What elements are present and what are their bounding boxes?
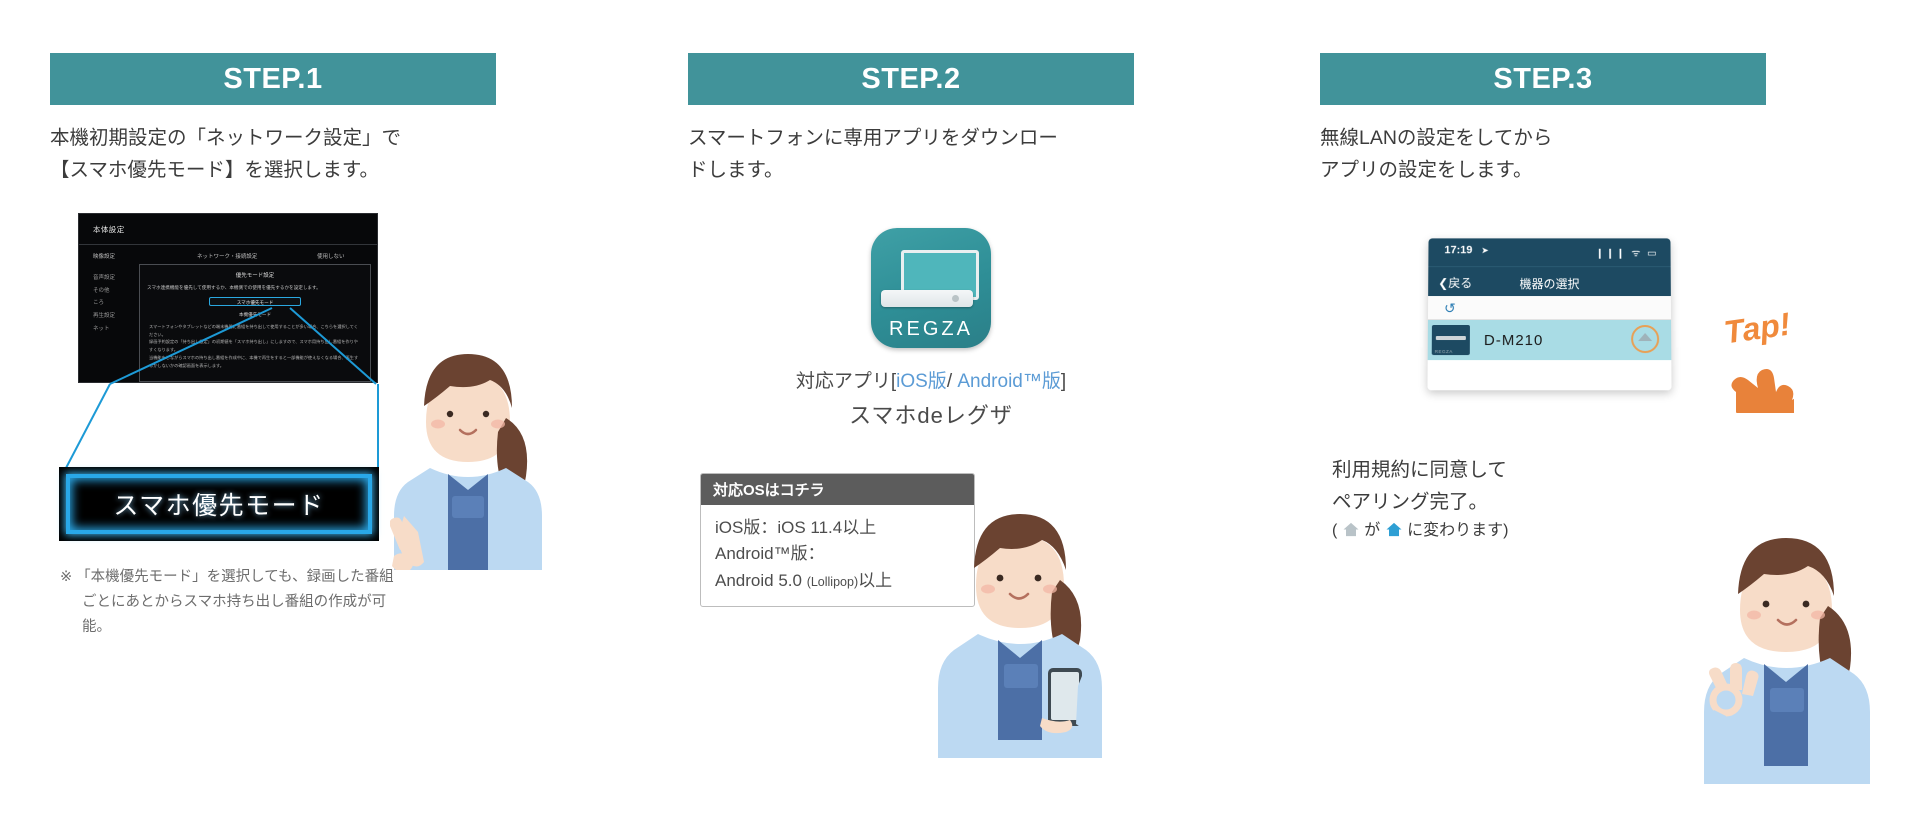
step-column-2: STEP.2 スマートフォンに専用アプリをダウンロー ドします。 REGZA 対… bbox=[688, 0, 1248, 819]
tv-screen-title: 本体設定 bbox=[93, 224, 125, 235]
device-thumbnail-bar bbox=[1436, 336, 1466, 340]
tv-settings-screenshot: 本体設定 映像設定 ネットワーク・接続設定 使用しない 音声設定 その他 ころ … bbox=[78, 213, 378, 383]
home-glyph-icon bbox=[1638, 333, 1652, 341]
tv-side-item-4: ネット bbox=[93, 323, 115, 336]
os-line-android-version: Android 5.0 (Lollipop)以上 bbox=[715, 568, 960, 594]
step-3-description: 無線LANの設定をしてから アプリの設定をします。 bbox=[1320, 123, 1790, 186]
tv-title-divider bbox=[79, 244, 377, 245]
step-2-desc-line2: ドします。 bbox=[688, 155, 1158, 187]
callout-inner-frame: スマホ優先モード bbox=[66, 474, 372, 534]
tv-bullet-2: 当機能をしながらスマホの持ち出し番組を作成中に、本機で再生をすると一部機能が使え… bbox=[149, 354, 361, 370]
tap-annotation-label: Tap! bbox=[1722, 306, 1793, 352]
device-list-item[interactable]: REGZA D-M210 bbox=[1428, 320, 1672, 360]
tv-tab-1: ネットワーク・接続設定 bbox=[197, 252, 257, 260]
smartphone-priority-callout: スマホ優先モード bbox=[60, 468, 378, 540]
regza-wordmark: REGZA bbox=[871, 318, 991, 341]
regza-app-icon[interactable]: REGZA bbox=[871, 228, 991, 348]
step-3-header: STEP.3 bbox=[1320, 53, 1766, 105]
app-title: スマホdeレグザ bbox=[688, 398, 1174, 430]
supported-os-header: 対応OSはコチラ bbox=[701, 474, 974, 505]
step-1-desc-line2: 【スマホ優先モード】を選択します。 bbox=[50, 155, 520, 187]
phone-status-icons: ❙❙❙ ᯤ ▭ bbox=[1596, 245, 1659, 259]
paren-mid: が bbox=[1364, 522, 1380, 539]
tv-side-item-2: ころ bbox=[93, 297, 115, 310]
home-status-icon[interactable] bbox=[1631, 325, 1659, 353]
app-suffix: ] bbox=[1061, 371, 1066, 392]
app-android-link[interactable]: Android™版 bbox=[957, 371, 1061, 392]
tv-option-device-priority[interactable]: 本機優先モード bbox=[209, 310, 301, 319]
device-list-empty-area bbox=[1427, 360, 1671, 390]
step-1-footnote-line2: ごとにあとからスマホ持ち出し番組の作成が可 bbox=[60, 590, 530, 615]
phone-nav-title: 機器の選択 bbox=[1428, 275, 1671, 292]
step-1-header: STEP.1 bbox=[50, 53, 496, 105]
step-3-desc-line1: 無線LANの設定をしてから bbox=[1320, 123, 1790, 155]
tv-option-smartphone-priority[interactable]: スマホ優先モード bbox=[209, 297, 301, 306]
step-2-header: STEP.2 bbox=[688, 53, 1134, 105]
step-1-desc-line1: 本機初期設定の「ネットワーク設定」で bbox=[50, 123, 520, 155]
phone-clock: 17:19 bbox=[1444, 244, 1472, 256]
os-android-tail: 以上 bbox=[858, 571, 892, 590]
step-column-1: STEP.1 本機初期設定の「ネットワーク設定」で 【スマホ優先モード】を選択し… bbox=[50, 0, 610, 819]
step-3-footnote-line2: ペアリング完了。 bbox=[1332, 486, 1752, 518]
tv-side-item-1: その他 bbox=[93, 285, 115, 298]
step-3-desc-line2: アプリの設定をします。 bbox=[1320, 155, 1790, 187]
supported-os-box: 対応OSはコチラ iOS版：iOS 11.4以上 Android™版： Andr… bbox=[700, 473, 975, 607]
illustration-person-with-phone bbox=[936, 462, 1106, 762]
tv-dialog-body: スマホ連携機能を優先して使用するか、本機側での使用を優先するかを設定します。 bbox=[147, 284, 363, 292]
home-icon-blue bbox=[1385, 522, 1403, 537]
tv-side-item-0: 音声設定 bbox=[93, 272, 115, 285]
home-icon-gray bbox=[1342, 522, 1360, 537]
step-1-footnote-line1: ※ 「本機優先モード」を選択しても、録画した番組 bbox=[60, 569, 394, 585]
tv-dialog-bullets: スマートフォンやタブレットなどの端末機器に番組を持ち出して使用することが多い場合… bbox=[149, 323, 361, 370]
device-thumbnail: REGZA bbox=[1432, 325, 1470, 355]
tv-priority-mode-dialog: 優先モード設定 スマホ連携機能を優先して使用するか、本機側での使用を優先するかを… bbox=[139, 264, 371, 382]
tv-side-item-3: 再生設定 bbox=[93, 310, 115, 323]
step-3-footnote-line3: ( が に変わります) bbox=[1332, 518, 1752, 544]
step-3-footnote: 利用規約に同意して ペアリング完了。 ( が に変わります) bbox=[1332, 454, 1752, 545]
step-guide-page: STEP.1 本機初期設定の「ネットワーク設定」で 【スマホ優先モード】を選択し… bbox=[0, 0, 1920, 819]
phone-screenshot: 17:19 ➤ ❙❙❙ ᯤ ▭ ❮戻る 機器の選択 ↺ REGZA bbox=[1427, 238, 1671, 390]
device-thumbnail-label: REGZA bbox=[1435, 349, 1453, 354]
os-android-codename: (Lollipop) bbox=[807, 575, 858, 589]
step-1-footnote-line3: 能。 bbox=[60, 615, 530, 640]
step-1-description: 本機初期設定の「ネットワーク設定」で 【スマホ優先モード】を選択します。 bbox=[50, 123, 520, 186]
phone-refresh-row[interactable]: ↺ bbox=[1428, 296, 1671, 320]
location-arrow-icon: ➤ bbox=[1481, 245, 1489, 256]
tv-tab-2: 使用しない bbox=[317, 252, 345, 260]
step-3-footnote-line1: 利用規約に同意して bbox=[1332, 454, 1752, 486]
refresh-icon[interactable]: ↺ bbox=[1444, 300, 1456, 317]
tv-tab-0: 映像設定 bbox=[93, 252, 115, 260]
app-separator: / bbox=[947, 371, 958, 392]
device-name: D-M210 bbox=[1484, 332, 1543, 349]
supported-os-body: iOS版：iOS 11.4以上 Android™版： Android 5.0 (… bbox=[701, 505, 974, 606]
step-2-desc-line1: スマートフォンに専用アプリをダウンロー bbox=[688, 123, 1158, 155]
tv-dialog-title: 優先モード設定 bbox=[140, 271, 370, 279]
paren-open: ( bbox=[1332, 522, 1337, 539]
phone-nav-bar: ❮戻る 機器の選択 bbox=[1428, 266, 1671, 296]
pointing-hand-icon bbox=[1724, 358, 1794, 413]
tv-bullet-1: 録画予約設定の「持ち出し設定」の初期値を「スマホ持ち出し」にしますので、スマホ用… bbox=[149, 338, 361, 354]
phone-status-bar: 17:19 ➤ ❙❙❙ ᯤ ▭ bbox=[1428, 238, 1670, 266]
tv-bullet-0: スマートフォンやタブレットなどの端末機器に番組を持ち出して使用することが多い場合… bbox=[149, 323, 361, 339]
app-prefix: 対応アプリ[ bbox=[796, 371, 896, 392]
supported-app-line: 対応アプリ[iOS版/ Android™版] bbox=[688, 366, 1174, 393]
app-ios-link[interactable]: iOS版 bbox=[896, 371, 947, 392]
step-1-footnote: ※ 「本機優先モード」を選択しても、録画した番組 ごとにあとからスマホ持ち出し番… bbox=[60, 565, 530, 640]
paren-tail: に変わります) bbox=[1407, 522, 1508, 539]
os-android-main: Android 5.0 bbox=[715, 571, 802, 590]
illustration-person-pointing bbox=[390, 310, 550, 570]
regza-recorder-icon bbox=[881, 290, 973, 307]
illustration-person-ok-sign bbox=[1700, 486, 1890, 786]
callout-label: スマホ優先モード bbox=[113, 486, 324, 522]
step-2-description: スマートフォンに専用アプリをダウンロー ドします。 bbox=[688, 123, 1158, 186]
step-column-3: STEP.3 無線LANの設定をしてから アプリの設定をします。 17:19 ➤… bbox=[1320, 0, 1880, 819]
tv-side-menu: 音声設定 その他 ころ 再生設定 ネット bbox=[93, 272, 115, 335]
os-line-android-label: Android™版： bbox=[715, 541, 960, 567]
os-line-ios: iOS版：iOS 11.4以上 bbox=[715, 515, 960, 541]
regza-recorder-knob bbox=[952, 295, 959, 302]
